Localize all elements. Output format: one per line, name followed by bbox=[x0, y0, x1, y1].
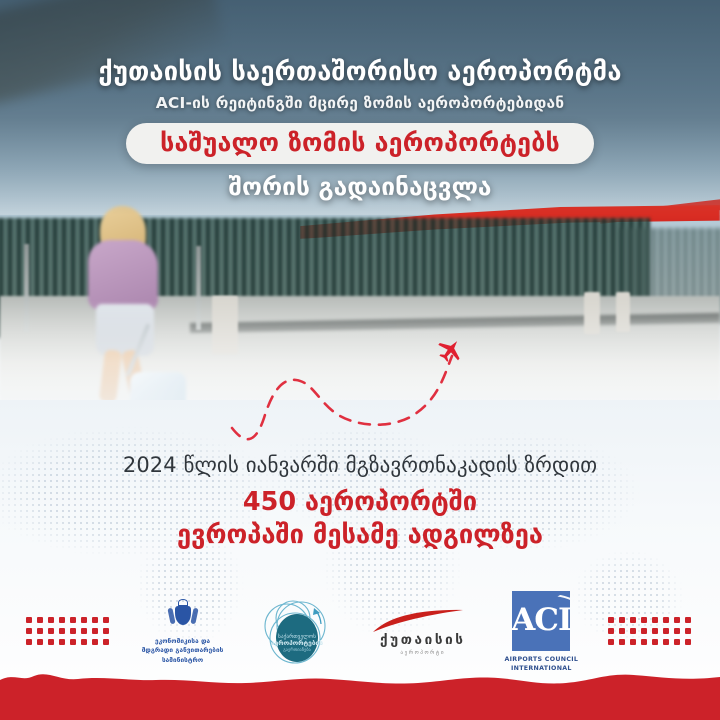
kutaisi-logo-label: ქუთაისის bbox=[380, 632, 466, 648]
stat-headline-2: ევროპაში მესამე ადგილზეა bbox=[0, 520, 720, 551]
kutaisi-logo-sublabel: აეროპორტი bbox=[400, 650, 445, 656]
highlight-pill: საშუალო ზომის აეროპორტებს bbox=[126, 123, 594, 165]
svg-text:აეროპორტების: აეროპორტების bbox=[271, 639, 323, 647]
flight-path-graphic bbox=[0, 300, 720, 460]
aci-logo-mark: ACI bbox=[512, 591, 570, 651]
highlight-pill-wrapper: საშუალო ზომის აეროპორტებს bbox=[0, 123, 720, 165]
dot-pattern-right bbox=[608, 617, 694, 648]
highlight-text: საშუალო ზომის აეროპორტებს bbox=[160, 129, 560, 157]
bottom-red-band bbox=[0, 664, 720, 720]
infographic-poster: ქუთაისის საერთაშორისო აეროპორტმა ACI-ის … bbox=[0, 0, 720, 720]
kutaisi-airport-logo: ქუთაისის აეროპორტი bbox=[371, 608, 475, 656]
dashed-route-line bbox=[232, 356, 452, 439]
ministry-logo-label: ეკონომიკისა დამდგრადი განვითარებისსამინი… bbox=[142, 637, 224, 664]
georgian-airports-union-logo: საქართველოს აეროპორტების გაერთიანება bbox=[253, 596, 341, 668]
dot-pattern-left bbox=[26, 617, 112, 648]
headline-line-1: ქუთაისის საერთაშორისო აეროპორტმა bbox=[0, 58, 720, 87]
aci-letters: ACI bbox=[512, 605, 570, 636]
headline-line-4: შორის გადაინაცვლა bbox=[0, 174, 720, 201]
headline-line-2: ACI-ის რეიტინგში მცირე ზომის აეროპორტები… bbox=[0, 94, 720, 112]
kutaisi-swoosh-icon bbox=[371, 608, 475, 634]
svg-text:გაერთიანება: გაერთიანება bbox=[283, 646, 311, 653]
stat-lead-text: 2024 წლის იანვარში მგზავრთნაკადის ზრდით bbox=[0, 452, 720, 478]
ministry-crest-icon bbox=[170, 599, 196, 633]
statistics-block: 2024 წლის იანვარში მგზავრთნაკადის ზრდით … bbox=[0, 452, 720, 551]
headline-block: ქუთაისის საერთაშორისო აეროპორტმა ACI-ის … bbox=[0, 58, 720, 201]
ministry-of-economy-logo: ეკონომიკისა დამდგრადი განვითარებისსამინი… bbox=[142, 599, 224, 664]
aci-logo: ACI AIRPORTS COUNCILINTERNATIONAL bbox=[504, 591, 578, 674]
airports-union-icon: საქართველოს აეროპორტების გაერთიანება bbox=[253, 596, 341, 668]
stat-headline-1: 450 აეროპორტში bbox=[0, 487, 720, 518]
